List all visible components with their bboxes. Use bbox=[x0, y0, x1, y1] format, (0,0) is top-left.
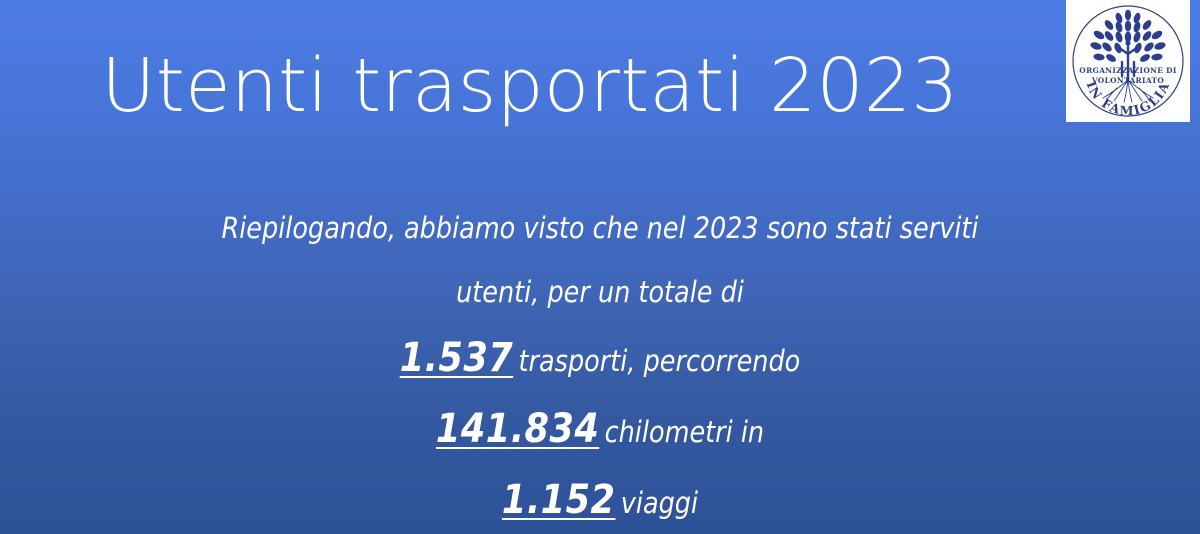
logo-text-line1: ORGANIZZAZIONE DI bbox=[1079, 66, 1177, 75]
stat-value-trasporti: 1.537 bbox=[400, 335, 514, 381]
body-line-intro: Riepilogando, abbiamo visto che nel 2023… bbox=[72, 196, 1128, 260]
stat-line-viaggi: 1.152viaggi bbox=[72, 466, 1128, 534]
stat-label-trasporti: trasporti, percorrendo bbox=[519, 344, 801, 378]
stat-label-viaggi: viaggi bbox=[621, 486, 698, 520]
body-content: Riepilogando, abbiamo visto che nel 2023… bbox=[0, 196, 1200, 534]
stat-value-chilometri: 141.834 bbox=[436, 406, 599, 452]
page-title: Utenti trasportati 2023 bbox=[0, 48, 1060, 126]
logo-text-line2: VOLONTARIATO bbox=[1091, 76, 1165, 85]
stat-value-viaggi: 1.152 bbox=[502, 477, 616, 523]
in-famiglia-logo-icon: ORGANIZZAZIONE DI VOLONTARIATO IN FAMIGL… bbox=[1069, 2, 1187, 120]
stat-label-chilometri: chilometri in bbox=[605, 415, 765, 449]
slide: Utenti trasportati 2023 Riepilogando, ab… bbox=[0, 0, 1200, 534]
stat-line-chilometri: 141.834chilometri in bbox=[72, 395, 1128, 466]
logo-card: ORGANIZZAZIONE DI VOLONTARIATO IN FAMIGL… bbox=[1066, 0, 1190, 122]
stat-line-trasporti: 1.537trasporti, percorrendo bbox=[72, 324, 1128, 395]
body-line-continued: utenti, per un totale di bbox=[72, 260, 1128, 324]
